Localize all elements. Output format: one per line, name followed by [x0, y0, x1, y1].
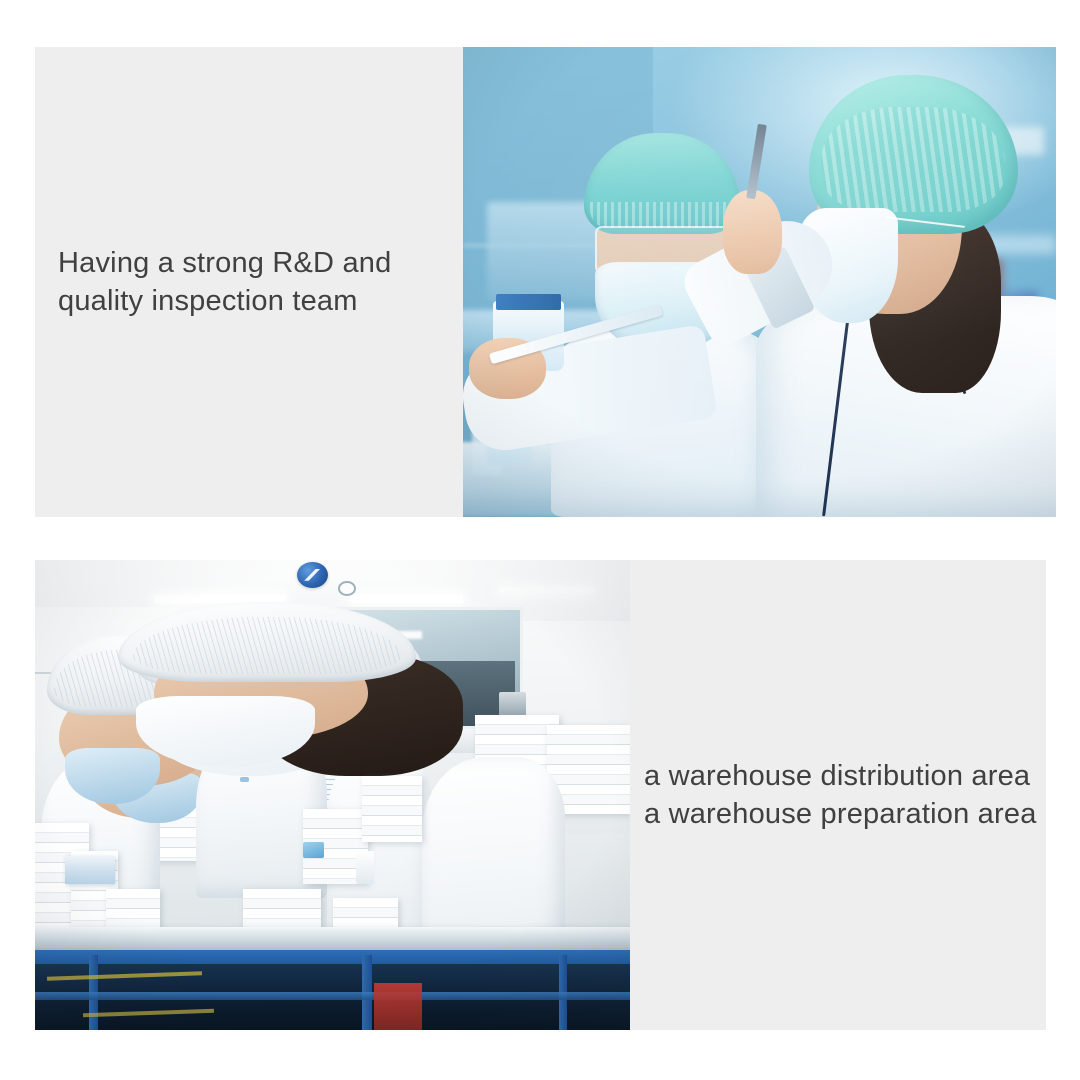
ceiling-light — [499, 586, 594, 594]
company-logo-sign-icon — [297, 562, 328, 588]
table-lower-shelf-bar — [35, 992, 630, 1000]
box-stack — [362, 776, 422, 842]
section-rnd: Having a strong R&D and quality inspecti… — [35, 47, 1056, 517]
blue-carton — [303, 842, 324, 858]
product-bottle — [356, 851, 374, 884]
caption-panel-warehouse: a warehouse distribution area a warehous… — [630, 560, 1046, 1030]
section-warehouse: a warehouse distribution area a warehous… — [35, 560, 1046, 1030]
lab-reagent-bottle-cap — [496, 294, 561, 310]
poster-canvas: Having a strong R&D and quality inspecti… — [0, 0, 1080, 1080]
caption-warehouse-text: a warehouse distribution area a warehous… — [644, 757, 1037, 834]
box-stack-blue-tinted — [65, 856, 115, 884]
lab-quality-inspection-photo — [463, 47, 1056, 517]
warehouse-packaging-photo — [35, 560, 630, 1030]
lab-tweezers — [747, 124, 767, 200]
caption-rnd-text: Having a strong R&D and quality inspecti… — [58, 244, 391, 321]
ceiling-light — [350, 595, 463, 603]
caption-panel-rnd: Having a strong R&D and quality inspecti… — [35, 47, 463, 517]
worker-badge — [240, 777, 249, 782]
lab-worker-profile-hand — [723, 190, 783, 274]
lab-worker-profile — [736, 75, 1056, 517]
lab-worker-front-surgical-cap — [584, 133, 740, 234]
red-bin — [374, 983, 422, 1030]
